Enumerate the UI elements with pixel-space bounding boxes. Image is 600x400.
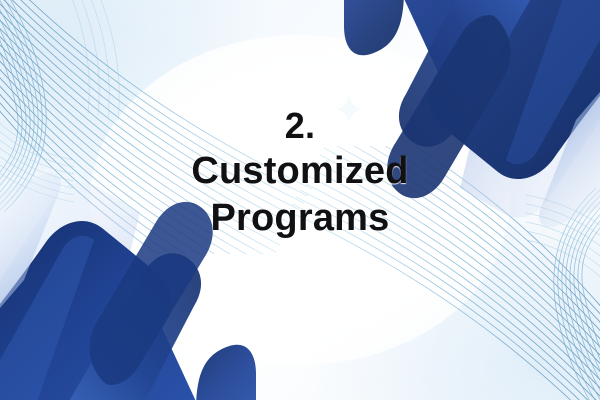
title-line-1: Customized — [0, 148, 600, 195]
slide-canvas: 2. Customized Programs — [0, 0, 600, 400]
title-number: 2. — [0, 104, 600, 148]
slide-title: 2. Customized Programs — [0, 104, 600, 242]
title-line-2: Programs — [0, 195, 600, 242]
